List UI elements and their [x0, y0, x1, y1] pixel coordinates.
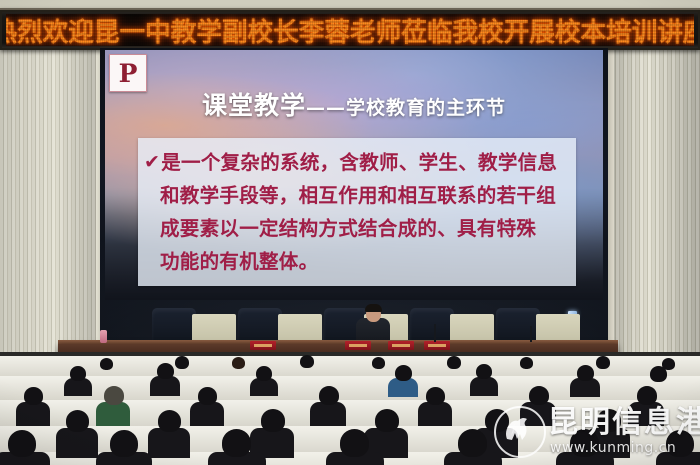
slide-body-line-2-text: 和教学手段等，相互作用和相互联系的若干组	[160, 179, 556, 212]
table-nameplate	[345, 341, 371, 350]
slide-title-dash: ——	[306, 97, 346, 119]
audience-head	[198, 387, 217, 405]
audience-body	[520, 402, 556, 426]
audience-head	[458, 429, 487, 457]
audience-head	[666, 430, 694, 457]
audience-head	[222, 429, 251, 457]
slide-title: 课堂教学——学校教育的主环节	[105, 86, 603, 122]
audience-head	[447, 356, 461, 369]
audience-body	[150, 376, 180, 396]
slide-title-main: 课堂教学	[202, 91, 306, 120]
audience-body	[96, 402, 130, 426]
audience-body	[470, 377, 498, 396]
slide-body-line-4: 功能的有机整体。	[144, 245, 566, 278]
slide-body-line-1-text: 是一个复杂的系统，含教师、学生、教学信息	[161, 146, 557, 179]
led-banner-panel: 热烈欢迎昆一中教学副校长李蓉老师莅临我校开展校本培训讲座	[6, 14, 694, 46]
photograph-lecture-hall: 热烈欢迎昆一中教学副校长李蓉老师莅临我校开展校本培训讲座 P 课堂教学——学校教…	[0, 0, 700, 465]
slide-body-line-1: ✔ 是一个复杂的系统，含教师、学生、教学信息	[144, 146, 566, 179]
audience-head	[395, 365, 412, 381]
projected-slide: P 课堂教学——学校教育的主环节 ✔ 是一个复杂的系统，含教师、学生、教学信息 …	[105, 50, 603, 300]
audience-head	[175, 356, 189, 369]
speaker-hair	[365, 304, 382, 312]
table-nameplate	[424, 341, 450, 350]
audience-body	[16, 402, 50, 426]
audience-body	[190, 402, 224, 426]
audience-head	[300, 355, 314, 368]
slide-body-line-2: 和教学手段等，相互作用和相互联系的若干组	[144, 179, 566, 212]
audience-head	[158, 410, 181, 432]
vertical-blinds-left	[0, 44, 100, 354]
audience-body	[310, 402, 346, 426]
led-banner-sign: 热烈欢迎昆一中教学副校长李蓉老师莅临我校开展校本培训讲座	[0, 8, 700, 50]
audience-head	[485, 409, 509, 432]
slide-body-line-3: 成要素以一定结构方式结合成的、具有特殊	[144, 212, 566, 245]
audience-head	[476, 364, 492, 379]
audience-head	[261, 409, 285, 432]
audience-head	[110, 430, 138, 457]
audience-head	[426, 387, 445, 405]
audience-head	[100, 358, 113, 370]
audience-head	[637, 386, 657, 405]
audience-head	[319, 386, 339, 405]
audience-head	[24, 387, 43, 405]
audience-head	[157, 363, 174, 379]
table-nameplate	[250, 341, 276, 350]
water-bottle	[100, 330, 107, 343]
led-banner-text: 热烈欢迎昆一中教学副校长李蓉老师莅临我校开展校本培训讲座	[6, 14, 694, 46]
audience-head	[66, 410, 89, 432]
audience-body	[628, 402, 664, 426]
audience-head	[520, 357, 533, 369]
audience-head	[70, 366, 86, 381]
audience-head	[597, 409, 621, 432]
vertical-blinds-right	[612, 44, 700, 374]
slide-body-line-4-text: 功能的有机整体。	[160, 245, 318, 278]
audience-body	[56, 428, 98, 458]
microphone-stem	[530, 326, 532, 342]
audience-body	[148, 428, 190, 458]
slide-body-line-3-text: 成要素以一定结构方式结合成的、具有特殊	[160, 212, 536, 245]
audience-head	[340, 429, 369, 457]
audience-head	[596, 356, 610, 369]
audience-head	[104, 386, 124, 405]
audience-head	[375, 409, 399, 432]
audience-head	[529, 386, 549, 405]
audience-head	[577, 365, 594, 381]
slide-title-subtitle: 学校教育的主环节	[346, 97, 506, 119]
table-nameplate	[388, 341, 414, 350]
checkmark-icon: ✔	[144, 146, 160, 179]
audience-head	[570, 429, 599, 457]
audience-head	[232, 357, 245, 369]
audience-area	[0, 352, 700, 465]
audience-head	[8, 430, 36, 457]
audience-head	[372, 357, 385, 369]
audience-body	[418, 402, 452, 426]
audience-head	[650, 366, 667, 382]
slide-body-textbox: ✔ 是一个复杂的系统，含教师、学生、教学信息 和教学手段等，相互作用和相互联系的…	[138, 138, 576, 286]
microphone-stem	[434, 324, 436, 342]
audience-head	[256, 366, 272, 381]
